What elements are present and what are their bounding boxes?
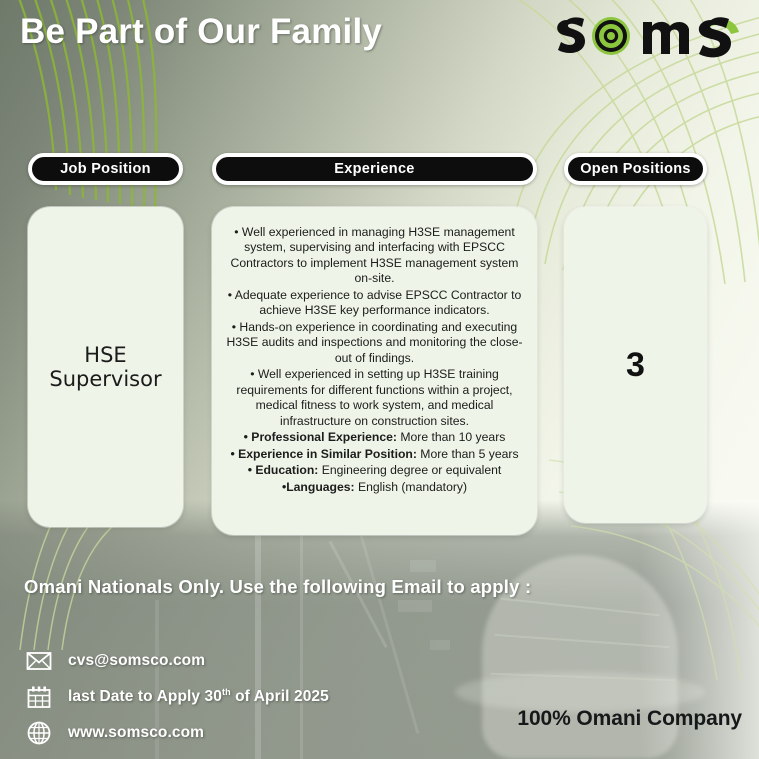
experience-item-label: • Education: [248, 463, 319, 477]
deadline-post: of April 2025 [231, 689, 329, 706]
experience-item-text: • Adequate experience to advise EPSCC Co… [228, 288, 522, 317]
experience-item-text: English (mandatory) [355, 480, 467, 494]
page-title: Be Part of Our Family [20, 12, 382, 52]
calendar-icon [26, 684, 52, 710]
experience-item: • Professional Experience: More than 10 … [226, 430, 523, 445]
globe-icon [26, 720, 52, 746]
bg-scaffold-shape [410, 560, 436, 572]
experience-item-text: • Hands-on experience in coordinating an… [226, 320, 522, 365]
open-positions-header-label: Open Positions [580, 161, 691, 177]
soms-logo [555, 4, 745, 66]
column-header-experience: Experience [212, 153, 537, 185]
open-positions-card: 3 [564, 207, 707, 523]
experience-card: • Well experienced in managing H3SE mana… [212, 207, 537, 535]
experience-item-text: Engineering degree or equivalent [318, 463, 501, 477]
bg-scaffold-shape [398, 600, 432, 612]
contact-deadline-text: last Date to Apply 30th of April 2025 [68, 687, 329, 706]
open-positions-count: 3 [626, 346, 645, 385]
column-header-job-position: Job Position [28, 153, 183, 185]
experience-item-text: More than 5 years [417, 447, 519, 461]
job-position-header-label: Job Position [60, 161, 151, 177]
experience-item-label: • Professional Experience: [244, 430, 397, 444]
experience-item: • Hands-on experience in coordinating an… [226, 320, 523, 366]
contact-deadline: last Date to Apply 30th of April 2025 [26, 684, 329, 710]
company-tagline: 100% Omani Company [517, 707, 742, 731]
deadline-pre: last Date to Apply 30 [68, 689, 222, 706]
experience-item-label: •Languages: [282, 480, 355, 494]
experience-item: • Education: Engineering degree or equiv… [226, 463, 523, 478]
contact-email[interactable]: cvs@somsco.com [26, 648, 205, 674]
experience-requirements-list: • Well experienced in managing H3SE mana… [226, 225, 523, 495]
experience-item-text: More than 10 years [397, 430, 505, 444]
deadline-ordinal: th [222, 687, 231, 697]
experience-item: • Adequate experience to advise EPSCC Co… [226, 288, 523, 319]
contact-email-text: cvs@somsco.com [68, 652, 205, 670]
job-title: HSE Supervisor [49, 343, 161, 391]
experience-item-text: • Well experienced in setting up H3SE tr… [236, 367, 512, 427]
job-title-line2: Supervisor [49, 367, 161, 391]
experience-header-label: Experience [334, 161, 414, 177]
experience-item: •Languages: English (mandatory) [226, 480, 523, 495]
bg-scaffold-shape [430, 640, 450, 650]
experience-item-label: • Experience in Similar Position: [230, 447, 416, 461]
contact-website[interactable]: www.somsco.com [26, 720, 204, 746]
job-position-card: HSE Supervisor [28, 207, 183, 527]
experience-item: • Experience in Similar Position: More t… [226, 447, 523, 462]
envelope-icon [26, 648, 52, 674]
job-title-line1: HSE [84, 343, 126, 367]
experience-item: • Well experienced in setting up H3SE tr… [226, 367, 523, 429]
column-header-open-positions: Open Positions [564, 153, 707, 185]
contact-website-text: www.somsco.com [68, 724, 204, 742]
job-ad-poster: Be Part of Our Family Job Position Exper… [0, 0, 759, 759]
experience-item: • Well experienced in managing H3SE mana… [226, 225, 523, 287]
bg-scaffold-shape [300, 520, 303, 759]
eligibility-note: Omani Nationals Only. Use the following … [24, 576, 531, 598]
bg-scaffold-shape [255, 505, 261, 759]
experience-item-text: • Well experienced in managing H3SE mana… [231, 225, 519, 285]
